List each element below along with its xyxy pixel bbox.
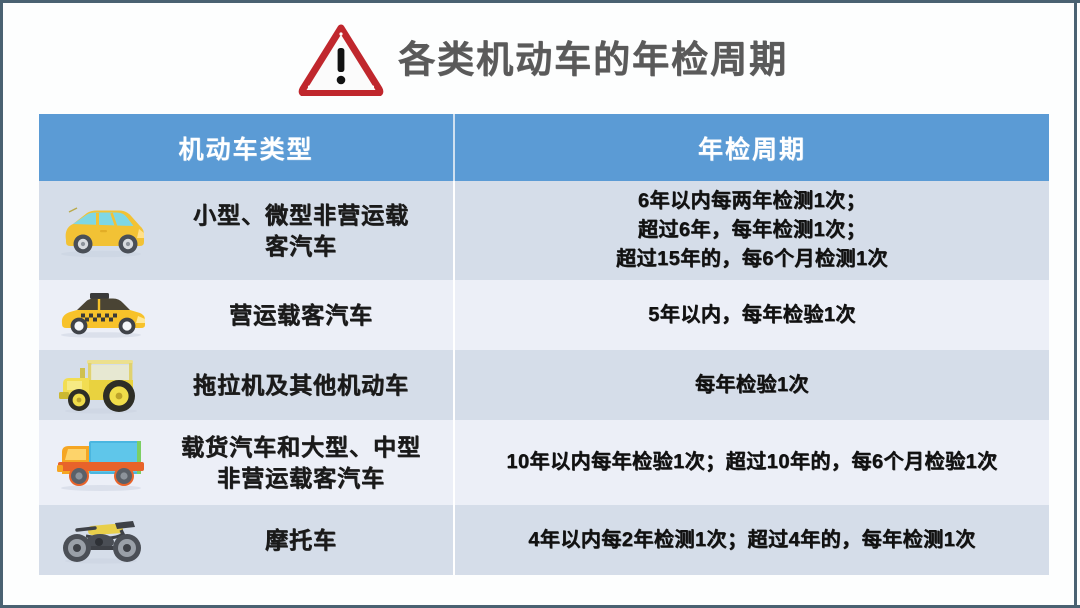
page-title: 各类机动车的年检周期	[398, 41, 788, 78]
taxi-icon	[39, 290, 163, 340]
vehicle-type-label: 营运载客汽车	[163, 300, 453, 330]
table-row: 摩托车 4年以内每2年检测1次；超过4年的，每年检测1次	[39, 505, 1049, 575]
hatchback-car-icon	[39, 202, 163, 260]
warning-triangle-icon	[298, 22, 384, 96]
inspection-cycle-cell: 每年检验1次	[455, 350, 1049, 420]
vehicle-type-cell: 载货汽车和大型、中型非营运载客汽车	[39, 420, 455, 505]
cargo-truck-icon	[39, 432, 163, 494]
table-row: 拖拉机及其他机动车 每年检验1次	[39, 350, 1049, 420]
inspection-cycle-table: 机动车类型 年检周期	[39, 114, 1049, 575]
table-row: 载货汽车和大型、中型非营运载客汽车 10年以内每年检验1次；超过10年的，每6个…	[39, 420, 1049, 505]
vehicle-type-cell: 拖拉机及其他机动车	[39, 350, 455, 420]
inspection-cycle-cell: 5年以内，每年检验1次	[455, 280, 1049, 350]
column-header-vehicle-type: 机动车类型	[39, 114, 455, 181]
vehicle-type-label: 小型、微型非营运载客汽车	[163, 200, 453, 261]
vehicle-type-cell: 营运载客汽车	[39, 280, 455, 350]
column-header-inspection-cycle: 年检周期	[455, 114, 1049, 181]
inspection-cycle-cell: 10年以内每年检验1次；超过10年的，每6个月检验1次	[455, 420, 1049, 505]
vehicle-type-cell: 摩托车	[39, 505, 455, 575]
motorcycle-icon	[39, 514, 163, 566]
vehicle-type-label: 载货汽车和大型、中型非营运载客汽车	[163, 432, 453, 493]
inspection-cycle-cell: 4年以内每2年检测1次；超过4年的，每年检测1次	[455, 505, 1049, 575]
table-head: 机动车类型 年检周期	[39, 114, 1049, 181]
vehicle-type-cell: 小型、微型非营运载客汽车	[39, 181, 455, 280]
inspection-cycle-cell: 6年以内每两年检测1次；超过6年，每年检测1次；超过15年的，每6个月检测1次	[455, 181, 1049, 280]
vehicle-type-label: 拖拉机及其他机动车	[163, 370, 453, 400]
page-header: 各类机动车的年检周期	[3, 17, 1080, 101]
vehicle-type-label: 摩托车	[163, 525, 453, 555]
table-row: 小型、微型非营运载客汽车 6年以内每两年检测1次；超过6年，每年检测1次；超过1…	[39, 181, 1049, 280]
infographic-page: 各类机动车的年检周期 机动车类型 年检周期	[0, 0, 1080, 608]
tractor-icon	[39, 354, 163, 416]
table-header-row: 机动车类型 年检周期	[39, 114, 1049, 181]
table-body: 小型、微型非营运载客汽车 6年以内每两年检测1次；超过6年，每年检测1次；超过1…	[39, 181, 1049, 575]
table-row: 营运载客汽车 5年以内，每年检验1次	[39, 280, 1049, 350]
